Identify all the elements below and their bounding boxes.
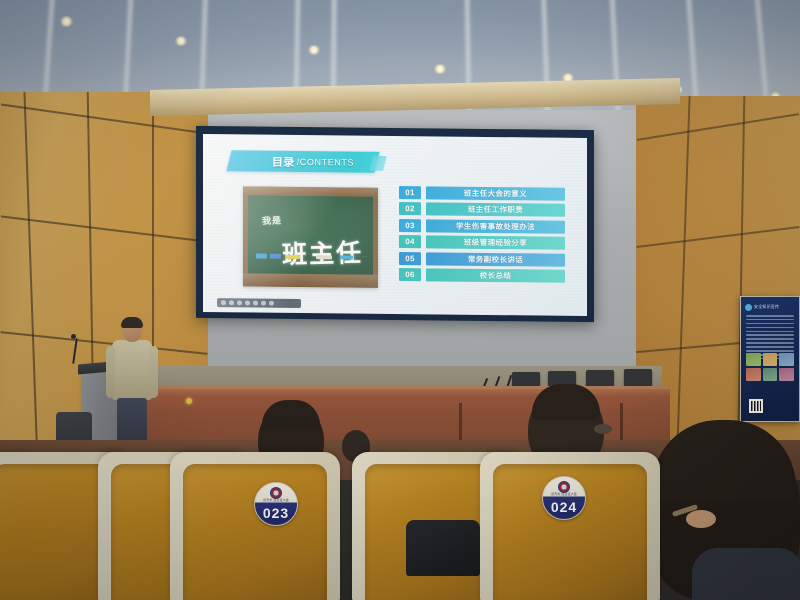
chalk-cyan <box>340 255 353 259</box>
seat-cushion <box>183 464 327 600</box>
poster-title: 安全知识宣传 <box>754 304 779 310</box>
agenda-item: 06 校长总结 <box>399 268 565 283</box>
seat[interactable]: 德育处 班主任大会 023 <box>170 452 340 600</box>
presenter-torso <box>112 340 152 400</box>
pen-icon[interactable] <box>237 300 242 305</box>
agenda-number: 06 <box>399 268 421 281</box>
presenter-person <box>110 318 154 450</box>
agenda-number: 01 <box>399 186 421 199</box>
presenter-hair <box>121 317 143 328</box>
chalkboard-credit: ········· <box>355 254 367 259</box>
presenter-left-arm <box>106 346 115 398</box>
projection-screen: 目录 /CONTENTS 我是 班主任 ········· <box>203 134 587 316</box>
podium-mic-head <box>71 334 76 339</box>
chalk-blue <box>256 254 267 259</box>
menu-icon[interactable] <box>269 301 274 306</box>
seat-badge-org: 德育处 班主任大会 <box>543 492 585 496</box>
agenda-label: 学生伤害事故处理办法 <box>426 219 565 233</box>
agenda-number: 04 <box>399 235 421 248</box>
seat-number-badge: 德育处 班主任大会 024 <box>542 476 586 520</box>
chalkboard-small-text: 我是 <box>262 213 283 227</box>
slide-icon[interactable] <box>261 301 266 306</box>
seat-badge-number: 024 <box>543 499 585 515</box>
agenda-label: 班主任工作职责 <box>426 203 565 217</box>
conference-hall-photo: 目录 /CONTENTS 我是 班主任 ········· <box>0 0 800 600</box>
foreground-seat-row: 德育处 班主任大会 016 德育处 班主任大会 023 德育处 班主任大会 02… <box>0 452 700 600</box>
seat-badge-number: 023 <box>255 505 297 521</box>
minus-icon[interactable] <box>253 301 258 306</box>
chalkboard-surface: 我是 班主任 ········· <box>248 195 373 274</box>
poster-qr-code <box>749 399 763 413</box>
agenda-label: 班主任大会的意义 <box>426 186 565 200</box>
powerpoint-presenter-toolbar[interactable] <box>217 298 301 308</box>
slide-title: 目录 /CONTENTS <box>243 151 383 171</box>
bag-object <box>406 520 480 576</box>
agenda-item: 02 班主任工作职责 <box>399 202 565 217</box>
audience-ear <box>594 424 612 434</box>
chalk-blue-2 <box>270 254 281 259</box>
seat-number-badge: 德育处 班主任大会 023 <box>254 482 298 526</box>
agenda-item: 03 学生伤害事故处理办法 <box>399 219 565 234</box>
seat[interactable]: 德育处 班主任大会 024 <box>480 452 660 600</box>
seat-badge-org: 德育处 班主任大会 <box>255 498 297 502</box>
agenda-label: 常务副校长讲话 <box>426 252 565 266</box>
record-icon[interactable] <box>221 300 226 305</box>
poster-header: 安全知识宣传 <box>745 303 795 311</box>
chalkboard-big-text: 班主任 <box>281 233 363 271</box>
agenda-item: 05 常务副校长讲话 <box>399 252 565 267</box>
agenda-number: 05 <box>399 252 421 265</box>
agenda-label: 校长总结 <box>426 268 565 282</box>
agenda-number: 02 <box>399 202 421 215</box>
rostrum-indicator-light <box>186 398 192 404</box>
gear-icon[interactable] <box>229 300 234 305</box>
chalkboard-image: 我是 班主任 ········· <box>243 186 378 287</box>
slide-title-en: /CONTENTS <box>297 156 354 167</box>
chalk-yellow <box>286 255 300 259</box>
information-poster-standee: 安全知识宣传 <box>740 296 800 422</box>
presenter-right-arm <box>149 346 158 398</box>
agenda-label: 班级管理经验分享 <box>426 235 565 249</box>
agenda-number: 03 <box>399 219 421 232</box>
agenda-item: 04 班级管理经验分享 <box>399 235 565 250</box>
agenda-list: 01 班主任大会的意义 02 班主任工作职责 03 学生伤害事故处理办法 04 … <box>399 186 565 286</box>
agenda-item: 01 班主任大会的意义 <box>399 186 565 201</box>
presentation-slide: 目录 /CONTENTS 我是 班主任 ········· <box>203 134 587 316</box>
poster-logo-icon <box>745 304 752 311</box>
audience-shoulders <box>692 548 800 600</box>
pointer-icon[interactable] <box>245 300 250 305</box>
poster-photo-grid <box>746 353 794 381</box>
chalk-white <box>316 255 332 259</box>
chalkboard-frame-bottom <box>243 273 378 287</box>
slide-title-cn: 目录 <box>272 153 295 169</box>
